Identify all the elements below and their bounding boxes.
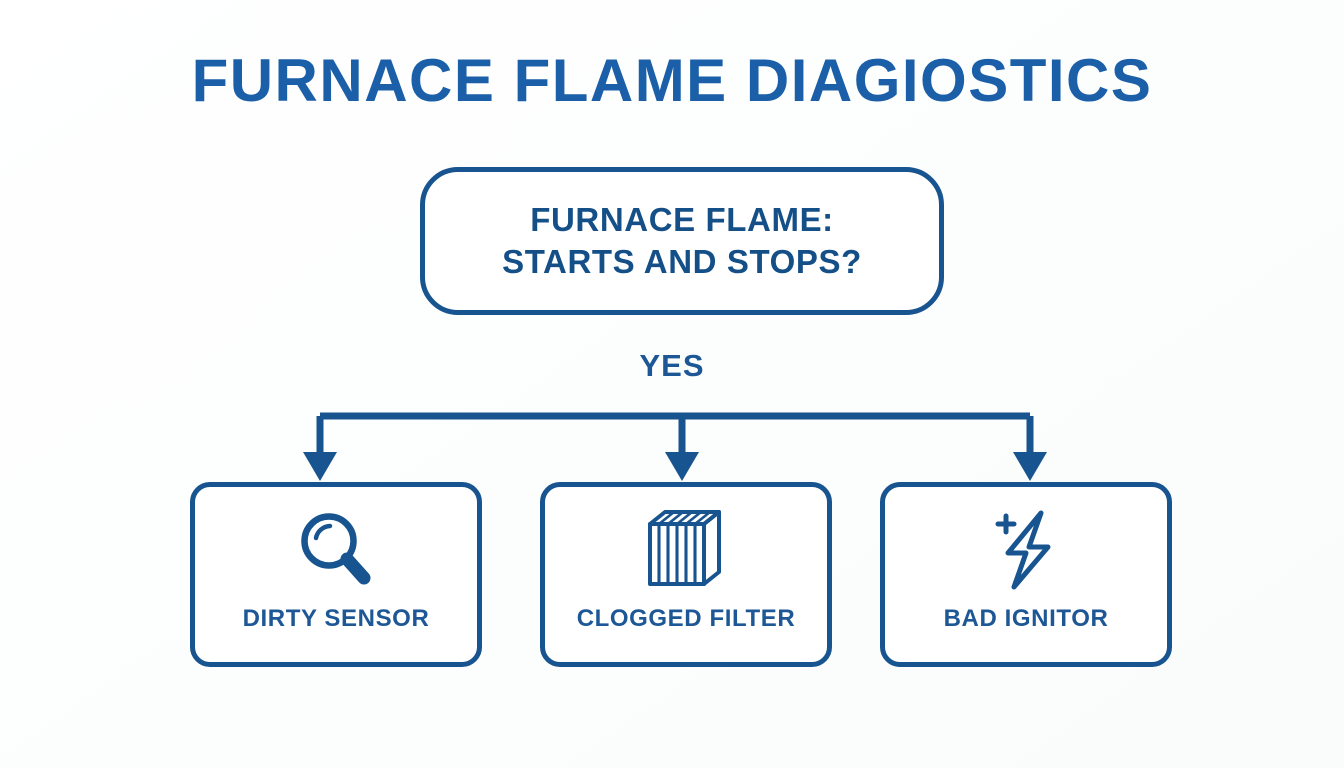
magnifying-glass-icon	[293, 509, 379, 591]
arrowhead-left	[303, 452, 337, 481]
outcome-node-clogged-filter[interactable]: CLOGGED FILTER	[540, 482, 832, 667]
diagram-canvas: FURNACE FLAME DIAGIOSTICS FURNACE FLAME:…	[0, 0, 1344, 768]
arrowhead-center	[665, 452, 699, 481]
air-filter-icon	[640, 509, 732, 591]
page-title: FURNACE FLAME DIAGIOSTICS	[0, 46, 1344, 115]
arrowhead-right	[1013, 452, 1047, 481]
decision-node[interactable]: FURNACE FLAME: STARTS AND STOPS?	[420, 167, 944, 315]
outcome-label-clogged-filter: CLOGGED FILTER	[577, 605, 796, 633]
outcome-label-bad-ignitor: BAD IGNITOR	[944, 605, 1109, 633]
outcome-node-bad-ignitor[interactable]: BAD IGNITOR	[880, 482, 1172, 667]
outcome-node-dirty-sensor[interactable]: DIRTY SENSOR	[190, 482, 482, 667]
branch-label-yes: YES	[0, 348, 1344, 384]
lightning-bolt-spark-icon	[986, 509, 1066, 591]
decision-node-line-2: STARTS AND STOPS?	[502, 241, 862, 283]
decision-node-line-1: FURNACE FLAME:	[530, 199, 834, 241]
outcome-label-dirty-sensor: DIRTY SENSOR	[243, 605, 430, 633]
